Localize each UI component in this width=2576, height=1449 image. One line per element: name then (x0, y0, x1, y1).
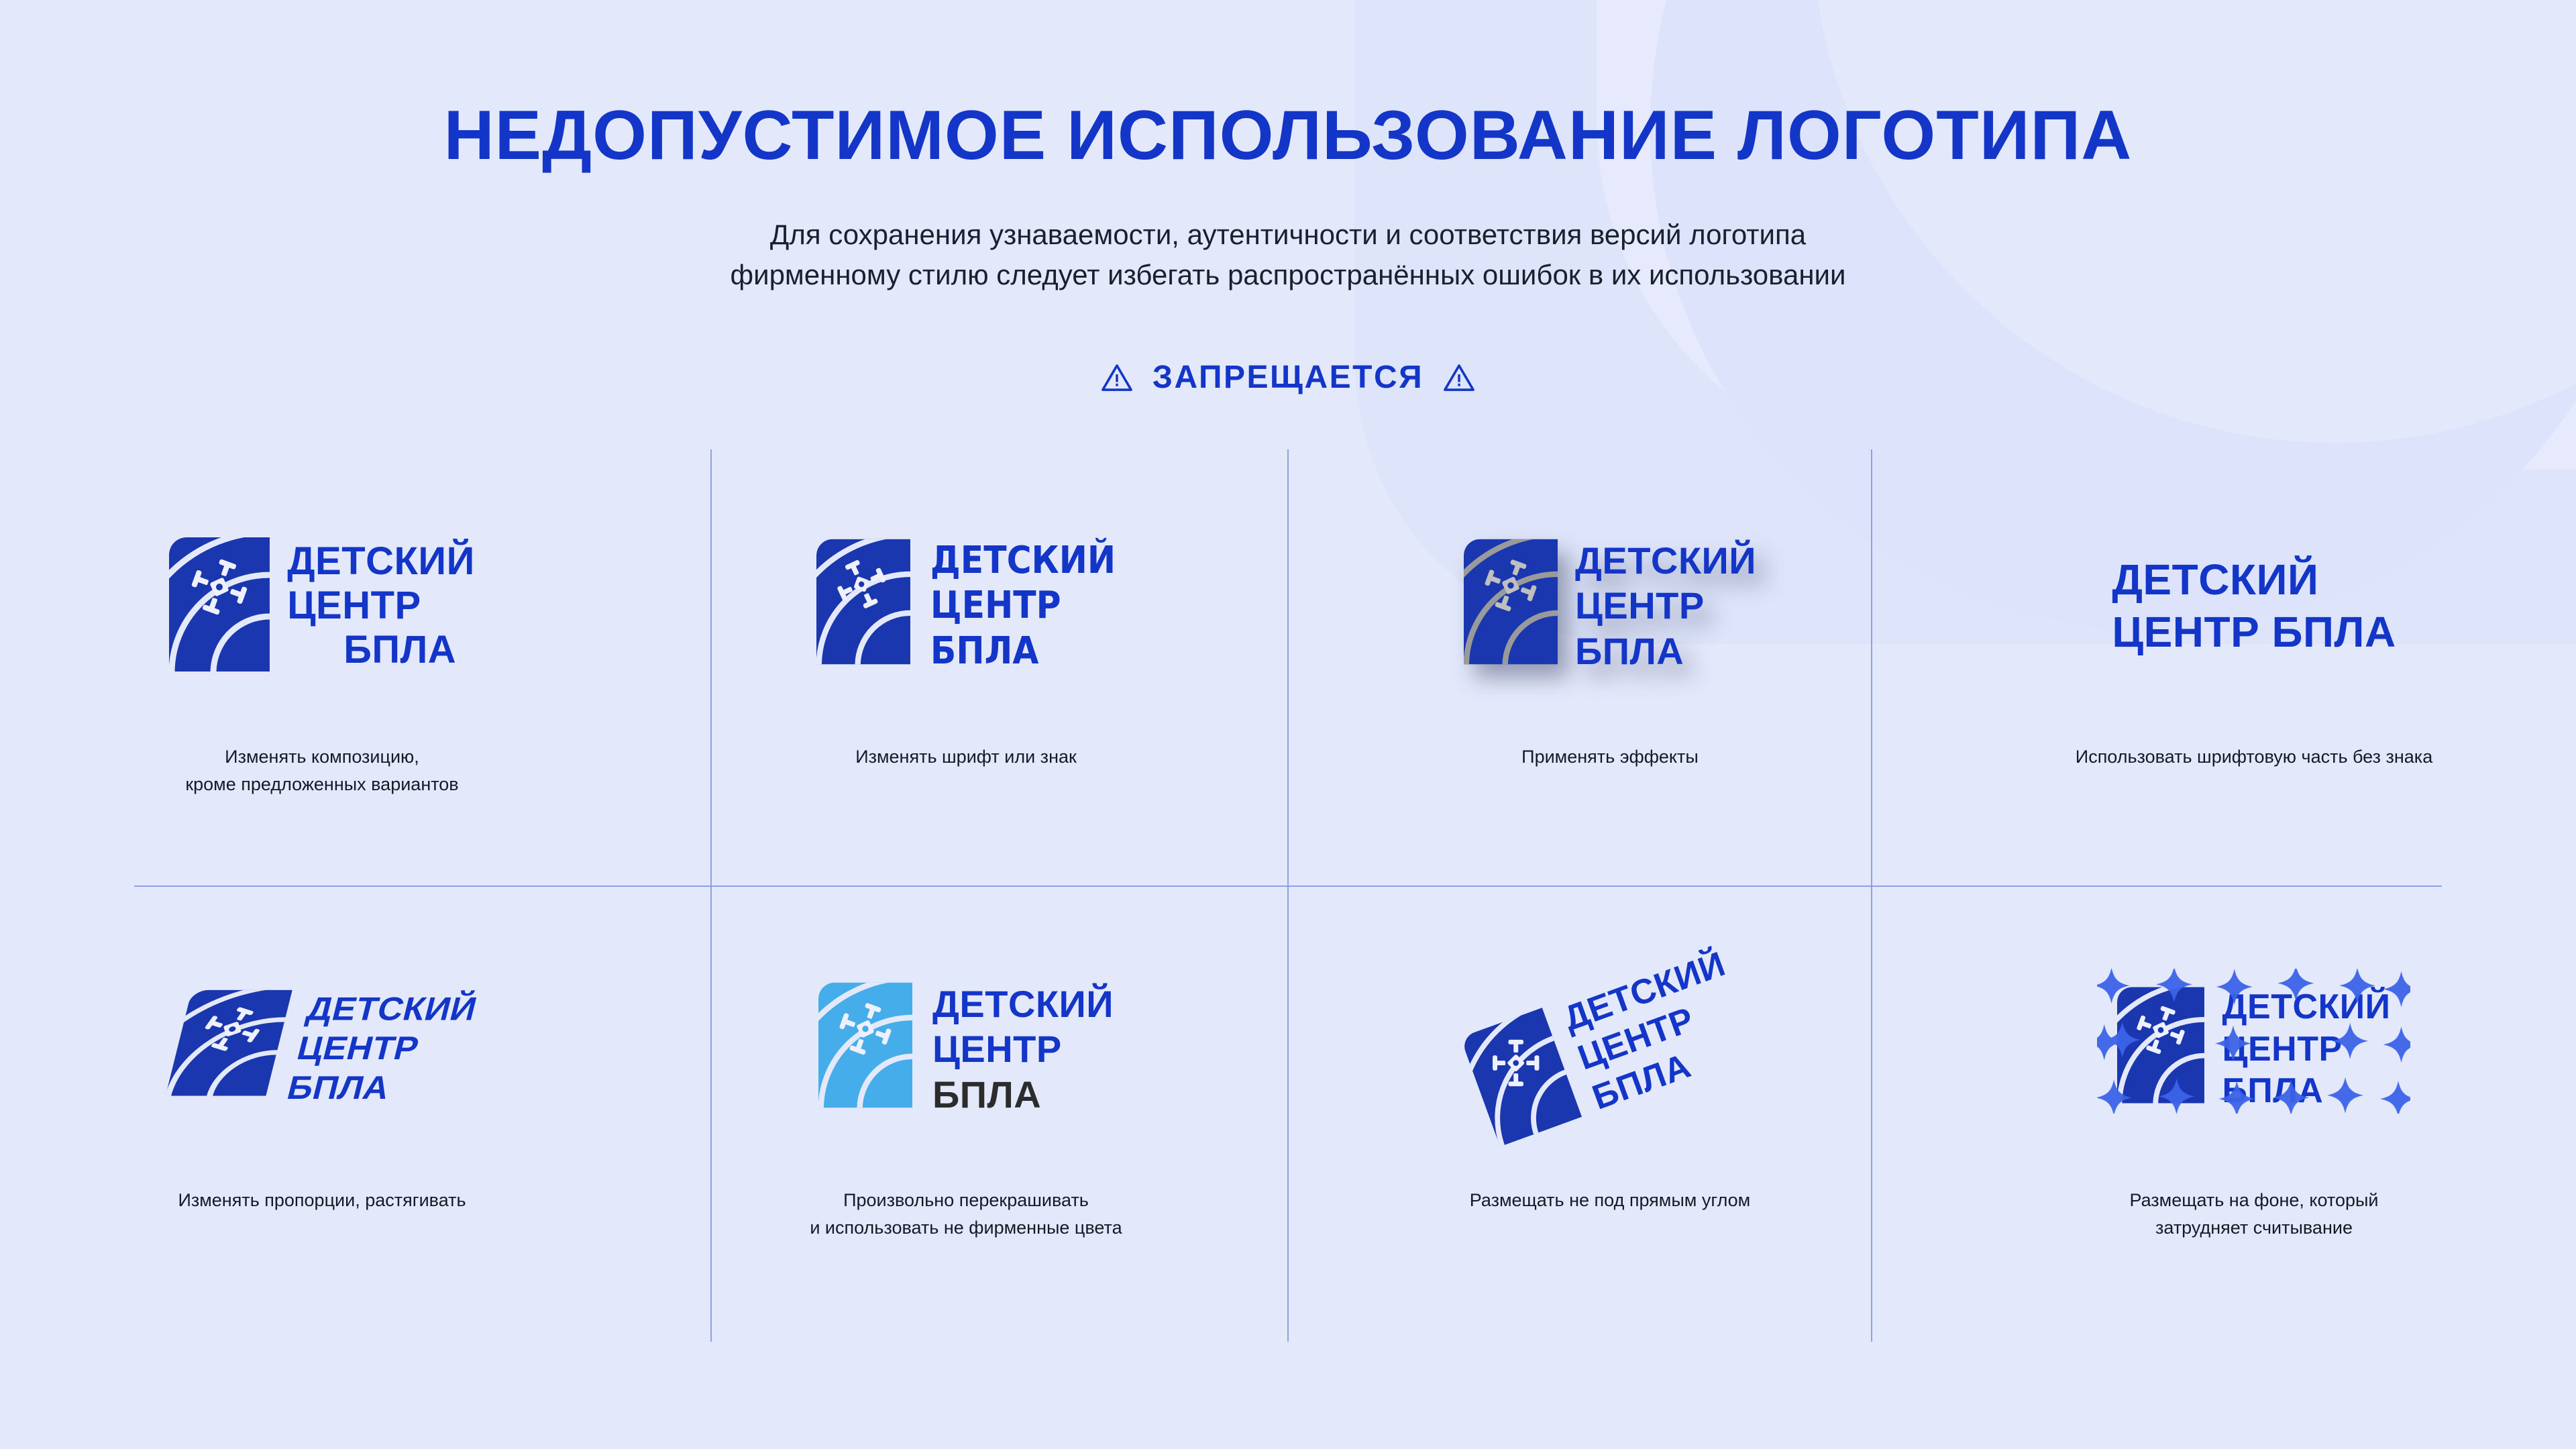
caption-line-2: кроме предложенных вариантов (185, 771, 458, 798)
cell-caption: Размещать на фоне, который затрудняет сч… (2129, 1187, 2378, 1241)
caption-line-2: и использовать не фирменные цвета (810, 1214, 1122, 1242)
logo-example-busy-background: ДЕТСКИЙ ЦЕНТР БПЛА (1959, 938, 2549, 1160)
logo-example-rotated: ДЕТСКИЙ ЦЕНТР БПЛА (1315, 938, 1905, 1160)
wordmark-line-3: БПЛА (2222, 1070, 2390, 1112)
misuse-cell-change-composition: ДЕТСКИЙ ЦЕНТР БПЛА Изменять композицию, … (0, 449, 644, 896)
misuse-cell-change-typeface: ДЕТСКИЙ ЦЕНТР БПЛА Изменять шрифт или зн… (644, 449, 1288, 896)
logo-mark-icon (1464, 538, 1558, 669)
forbidden-banner: ЗАПРЕЩАЕТСЯ (0, 359, 2576, 396)
subtitle-line-1: Для сохранения узнаваемости, аутентичнос… (600, 215, 1976, 255)
misuse-grid: ДЕТСКИЙ ЦЕНТР БПЛА Изменять композицию, … (0, 449, 2576, 1342)
caption-line-1: Изменять шрифт или знак (855, 743, 1077, 771)
logo-wordmark: ДЕТСКИЙ ЦЕНТР БПЛА (930, 538, 1116, 674)
misuse-cell-wordmark-only: ДЕТСКИЙ ЦЕНТР БПЛА Использовать шрифтову… (1932, 449, 2576, 896)
logo-example-recolored: ДЕТСКИЙ ЦЕНТР БПЛА (671, 938, 1261, 1160)
logo-wordmark: ДЕТСКИЙ ЦЕНТР БПЛА (1558, 943, 1760, 1119)
page-header: НЕДОПУСТИМОЕ ИСПОЛЬЗОВАНИЕ ЛОГОТИПА Для … (0, 0, 2576, 396)
misuse-cell-busy-background: ДЕТСКИЙ ЦЕНТР БПЛА (1932, 896, 2576, 1342)
caption-line-1: Использовать шрифтовую часть без знака (2076, 743, 2432, 771)
wordmark-line-3: БПЛА (932, 1072, 1114, 1117)
logo-wordmark: ДЕТСКИЙ ЦЕНТР БПЛА (932, 981, 1114, 1117)
wordmark-line-1: ДЕТСКИЙ (1575, 538, 1756, 583)
cell-caption: Применять эффекты (1521, 743, 1699, 771)
caption-line-1: Произвольно перекрашивать (810, 1187, 1122, 1214)
cell-caption: Изменять композицию, кроме предложенных … (185, 743, 458, 798)
misuse-cell-rotated: ДЕТСКИЙ ЦЕНТР БПЛА Размещать не под прям… (1288, 896, 1932, 1342)
logo-wordmark: ДЕТСКИЙ ЦЕНТР БПЛА (287, 539, 475, 672)
cell-caption: Изменять пропорции, растягивать (178, 1187, 466, 1214)
wordmark-line-1: ДЕТСКИЙ (303, 990, 482, 1030)
logo-example-skewed: ДЕТСКИЙ ЦЕНТР БПЛА (27, 938, 617, 1160)
wordmark-line-2: ЦЕНТР БПЛА (2112, 606, 2396, 658)
logo-wordmark: ДЕТСКИЙ ЦЕНТР БПЛА (2112, 553, 2396, 658)
logo-mark-icon (818, 981, 912, 1112)
logo-mark-icon (816, 538, 910, 669)
page-subtitle: Для сохранения узнаваемости, аутентичнос… (600, 215, 1976, 294)
misuse-cell-change-proportions: ДЕТСКИЙ ЦЕНТР БПЛА Изменять пропорции, р… (0, 896, 644, 1342)
logo-wordmark: ДЕТСКИЙ ЦЕНТР БПЛА (1575, 538, 1756, 674)
subtitle-line-2: фирменному стилю следует избегать распро… (600, 255, 1976, 295)
wordmark-line-1: ДЕТСКИЙ (932, 981, 1114, 1026)
wordmark-line-2: ЦЕНТР (287, 584, 475, 628)
caption-line-1: Изменять композицию, (185, 743, 458, 771)
forbidden-label: ЗАПРЕЩАЕТСЯ (1152, 359, 1424, 396)
logo-mark-icon (165, 990, 293, 1099)
logo-mark-icon (1460, 1007, 1584, 1151)
cell-caption: Изменять шрифт или знак (855, 743, 1077, 771)
wordmark-line-2: ЦЕНТР (1575, 583, 1756, 628)
caption-line-1: Размещать на фоне, который (2129, 1187, 2378, 1214)
warning-triangle-icon (1102, 362, 1132, 393)
misuse-cell-apply-effects: ДЕТСКИЙ ЦЕНТР БПЛА Применять эффекты (1288, 449, 1932, 896)
wordmark-line-3: БПЛА (284, 1069, 462, 1108)
wordmark-line-1: ДЕТСКИЙ (930, 538, 1116, 583)
logo-example-drop-shadow: ДЕТСКИЙ ЦЕНТР БПЛА (1315, 495, 1905, 716)
wordmark-line-1: ДЕТСКИЙ (2112, 553, 2396, 606)
cell-caption: Использовать шрифтовую часть без знака (2076, 743, 2432, 771)
logo-example-wrong-typeface: ДЕТСКИЙ ЦЕНТР БПЛА (671, 495, 1261, 716)
logo-example-staggered: ДЕТСКИЙ ЦЕНТР БПЛА (27, 495, 617, 716)
brand-guidelines-page: НЕДОПУСТИМОЕ ИСПОЛЬЗОВАНИЕ ЛОГОТИПА Для … (0, 0, 2576, 1449)
wordmark-line-1: ДЕТСКИЙ (287, 539, 475, 584)
logo-example-wordmark-only: ДЕТСКИЙ ЦЕНТР БПЛА (1959, 495, 2549, 716)
cell-caption: Произвольно перекрашивать и использовать… (810, 1187, 1122, 1241)
logo-mark-icon (169, 537, 270, 675)
caption-line-1: Применять эффекты (1521, 743, 1699, 771)
wordmark-line-3: БПЛА (287, 628, 475, 672)
cell-caption: Размещать не под прямым углом (1470, 1187, 1750, 1214)
caption-line-2: затрудняет считывание (2129, 1214, 2378, 1242)
logo-mark-icon (2117, 986, 2204, 1108)
misuse-cell-recolor: ДЕТСКИЙ ЦЕНТР БПЛА Произвольно перекраши… (644, 896, 1288, 1342)
logo-wordmark: ДЕТСКИЙ ЦЕНТР БПЛА (2222, 986, 2390, 1112)
caption-line-1: Изменять пропорции, растягивать (178, 1187, 466, 1214)
wordmark-line-2: ЦЕНТР (930, 583, 1116, 628)
wordmark-line-2: ЦЕНТР (2222, 1028, 2390, 1070)
wordmark-line-3: БПЛА (930, 629, 1116, 674)
warning-triangle-icon (1444, 362, 1474, 393)
wordmark-line-2: ЦЕНТР (932, 1026, 1114, 1071)
page-title: НЕДОПУСТИМОЕ ИСПОЛЬЗОВАНИЕ ЛОГОТИПА (0, 101, 2576, 170)
caption-line-1: Размещать не под прямым углом (1470, 1187, 1750, 1214)
wordmark-line-2: ЦЕНТР (293, 1030, 472, 1069)
wordmark-line-1: ДЕТСКИЙ (2222, 986, 2390, 1028)
logo-wordmark: ДЕТСКИЙ ЦЕНТР БПЛА (284, 990, 482, 1108)
wordmark-line-3: БПЛА (1575, 629, 1756, 674)
